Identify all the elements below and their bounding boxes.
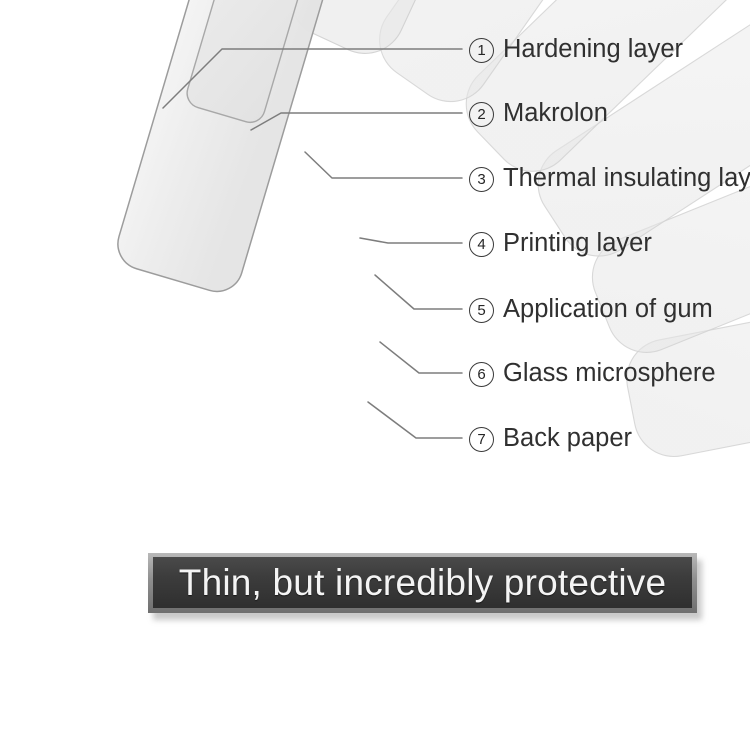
- callout-label-3: Thermal insulating layer: [503, 166, 750, 192]
- banner-inner-fill: Thin, but incredibly protective: [153, 557, 692, 608]
- callout-2[interactable]: 2 Makrolon: [469, 97, 608, 131]
- fanned-layers: [112, 0, 750, 463]
- diagram-canvas: 1 Hardening layer 2 Makrolon 3 Thermal i…: [0, 0, 750, 750]
- callout-5[interactable]: 5 Application of gum: [469, 293, 713, 327]
- banner-frame: Thin, but incredibly protective: [148, 553, 697, 613]
- callout-number-1: 1: [469, 38, 494, 63]
- callout-number-7: 7: [469, 427, 494, 452]
- callout-label-4: Printing layer: [503, 231, 652, 257]
- callout-number-5: 5: [469, 298, 494, 323]
- callout-3[interactable]: 3 Thermal insulating layer: [469, 162, 750, 196]
- callout-label-7: Back paper: [503, 426, 632, 452]
- callout-1[interactable]: 1 Hardening layer: [469, 33, 683, 67]
- callout-label-5: Application of gum: [503, 297, 713, 323]
- callout-6[interactable]: 6 Glass microsphere: [469, 357, 716, 391]
- callout-7[interactable]: 7 Back paper: [469, 422, 632, 456]
- callout-number-4: 4: [469, 232, 494, 257]
- tagline-banner: Thin, but incredibly protective: [148, 553, 697, 615]
- banner-text: Thin, but incredibly protective: [179, 564, 666, 601]
- leader-line-5: [375, 275, 462, 309]
- leader-line-7: [368, 402, 462, 438]
- leader-line-4: [360, 238, 462, 243]
- callout-label-6: Glass microsphere: [503, 361, 716, 387]
- callout-number-6: 6: [469, 362, 494, 387]
- callout-number-2: 2: [469, 102, 494, 127]
- leader-line-3: [305, 152, 462, 178]
- callout-number-3: 3: [469, 167, 494, 192]
- leader-line-6: [380, 342, 462, 373]
- callout-label-2: Makrolon: [503, 101, 608, 127]
- callout-4[interactable]: 4 Printing layer: [469, 227, 652, 261]
- callout-label-1: Hardening layer: [503, 37, 683, 63]
